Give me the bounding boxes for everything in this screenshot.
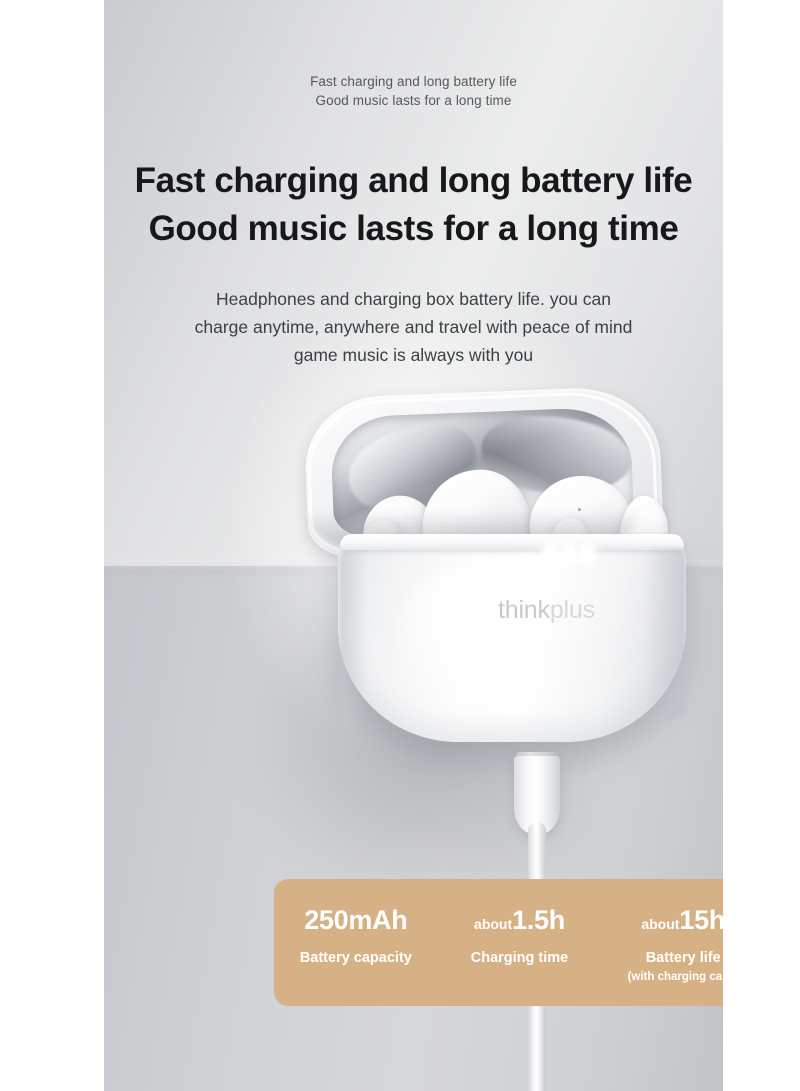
spec-bar: 250mAh Battery capacity about1.5h Chargi…	[274, 879, 723, 1006]
earbuds-charging-case-image: thinkplus	[300, 392, 723, 762]
spec-value-battery-capacity: 250mAh	[274, 903, 438, 941]
case-highlight	[396, 564, 546, 714]
cable-wire-upper	[528, 822, 546, 884]
product-marketing-page: Fast charging and long battery life Good…	[0, 0, 800, 1091]
thinkplus-brand-logo: thinkplus	[498, 598, 595, 623]
battery-led-indicators	[546, 546, 592, 562]
spec-label-battery-capacity: Battery capacity	[274, 949, 438, 968]
spec-sublabel-battery-life: (with charging case)	[601, 970, 723, 985]
headline-line-1: Fast charging and long battery life	[104, 157, 723, 205]
led-indicator-3	[582, 546, 592, 562]
spec-number-battery-life: 15h	[679, 905, 723, 935]
led-indicator-2	[564, 546, 574, 562]
subcopy-line-1: Headphones and charging box battery life…	[104, 285, 723, 313]
spec-prefix-battery-life: about	[641, 916, 679, 932]
headline: Fast charging and long battery life Good…	[104, 157, 723, 253]
cable-wire-lower	[528, 1004, 546, 1091]
case-top-edge	[340, 534, 684, 550]
led-indicator-1	[546, 546, 556, 562]
eyebrow-line-1: Fast charging and long battery life	[104, 72, 723, 91]
subcopy: Headphones and charging box battery life…	[104, 285, 723, 369]
spec-label-charging-time: Charging time	[438, 949, 602, 968]
case-right-shading	[644, 548, 686, 720]
brand-think-text: think	[498, 596, 550, 624]
eyebrow-text: Fast charging and long battery life Good…	[104, 72, 723, 110]
spec-number-battery-capacity: 250mAh	[304, 905, 407, 935]
subcopy-line-2: charge anytime, anywhere and travel with…	[104, 313, 723, 341]
spec-value-charging-time: about1.5h	[438, 903, 602, 941]
brand-plus-text: plus	[550, 596, 595, 624]
spec-prefix-charging-time: about	[474, 916, 512, 932]
spec-item-battery-capacity: 250mAh Battery capacity	[274, 903, 438, 968]
spec-label-battery-life: Battery life	[601, 949, 723, 968]
spec-value-battery-life: about15h	[601, 903, 723, 941]
case-left-shading	[340, 552, 366, 732]
headline-line-2: Good music lasts for a long time	[104, 205, 723, 253]
content-panel: Fast charging and long battery life Good…	[104, 0, 723, 1091]
subcopy-line-3: game music is always with you	[104, 341, 723, 369]
spec-item-charging-time: about1.5h Charging time	[438, 903, 602, 968]
eyebrow-line-2: Good music lasts for a long time	[104, 91, 723, 110]
spec-number-charging-time: 1.5h	[512, 905, 565, 935]
spec-item-battery-life: about15h Battery life (with charging cas…	[601, 903, 723, 985]
